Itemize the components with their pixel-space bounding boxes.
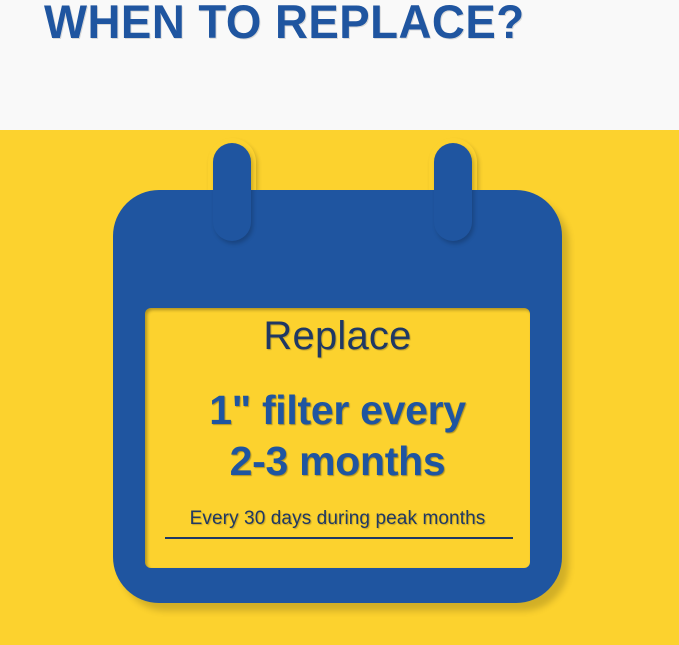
filter-interval-line-1: 1" filter every (145, 387, 530, 434)
calendar-body: Replace 1" filter every 2-3 months Every… (113, 190, 562, 603)
replace-heading: Replace (145, 314, 530, 359)
header-band: WHEN TO REPLACE? (0, 0, 679, 130)
footnote-underline (165, 537, 513, 539)
calendar-icon: Replace 1" filter every 2-3 months Every… (113, 190, 562, 603)
infographic-canvas: WHEN TO REPLACE? Replace 1" filter every… (0, 0, 679, 645)
calendar-page: Replace 1" filter every 2-3 months Every… (145, 308, 530, 568)
calendar-ring-left (213, 143, 251, 241)
calendar-ring-right (434, 143, 472, 241)
filter-interval-line-2: 2-3 months (145, 438, 530, 485)
page-title: WHEN TO REPLACE? (44, 0, 626, 49)
peak-months-footnote: Every 30 days during peak months (145, 508, 530, 530)
